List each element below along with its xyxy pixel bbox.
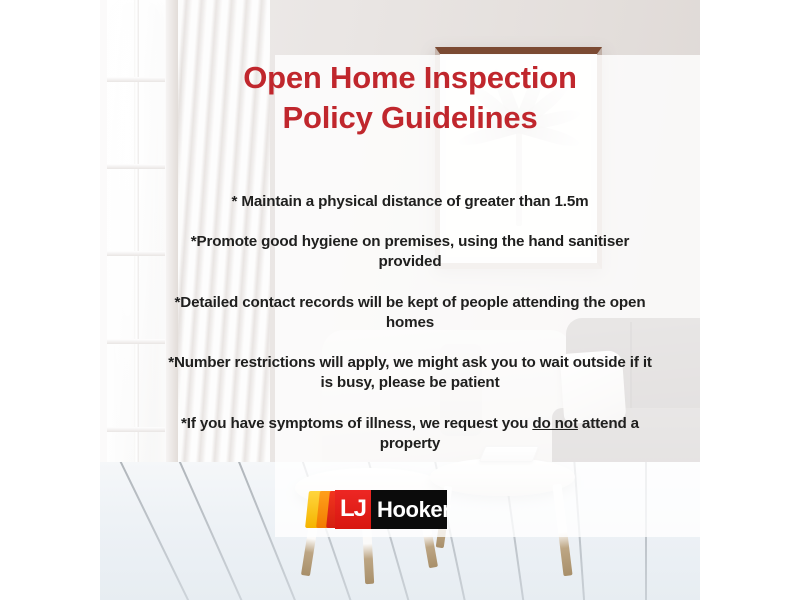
page-title: Open Home Inspection Policy Guidelines [150, 58, 670, 139]
title-line-2: Policy Guidelines [150, 98, 670, 138]
guidelines-list: * Maintain a physical distance of greate… [150, 192, 670, 474]
logo-wordmark-text: Hooker [371, 499, 450, 521]
guideline-emphasis: do not [532, 415, 578, 432]
poster-canvas: Open Home Inspection Policy Guidelines *… [0, 0, 800, 600]
guideline-item-emphasis: *If you have symptoms of illness, we req… [150, 414, 670, 454]
guideline-item: * Maintain a physical distance of greate… [150, 192, 670, 212]
guideline-item: *Number restrictions will apply, we migh… [150, 353, 670, 393]
logo-mark-text: LJ [340, 497, 366, 523]
guideline-text-before: *If you have symptoms of illness, we req… [181, 415, 532, 432]
guideline-item: *Promote good hygiene on premises, using… [150, 232, 670, 272]
logo-wordmark-block: Hooker [371, 490, 447, 529]
guideline-item: *Detailed contact records will be kept o… [150, 293, 670, 333]
logo-mark-block: LJ [335, 490, 371, 529]
lj-hooker-logo: LJ Hooker [307, 490, 447, 529]
letterbox-bar-right [700, 0, 800, 600]
letterbox-bar-left [0, 0, 100, 600]
poster-content: Open Home Inspection Policy Guidelines *… [150, 0, 670, 600]
title-line-1: Open Home Inspection [150, 58, 670, 98]
